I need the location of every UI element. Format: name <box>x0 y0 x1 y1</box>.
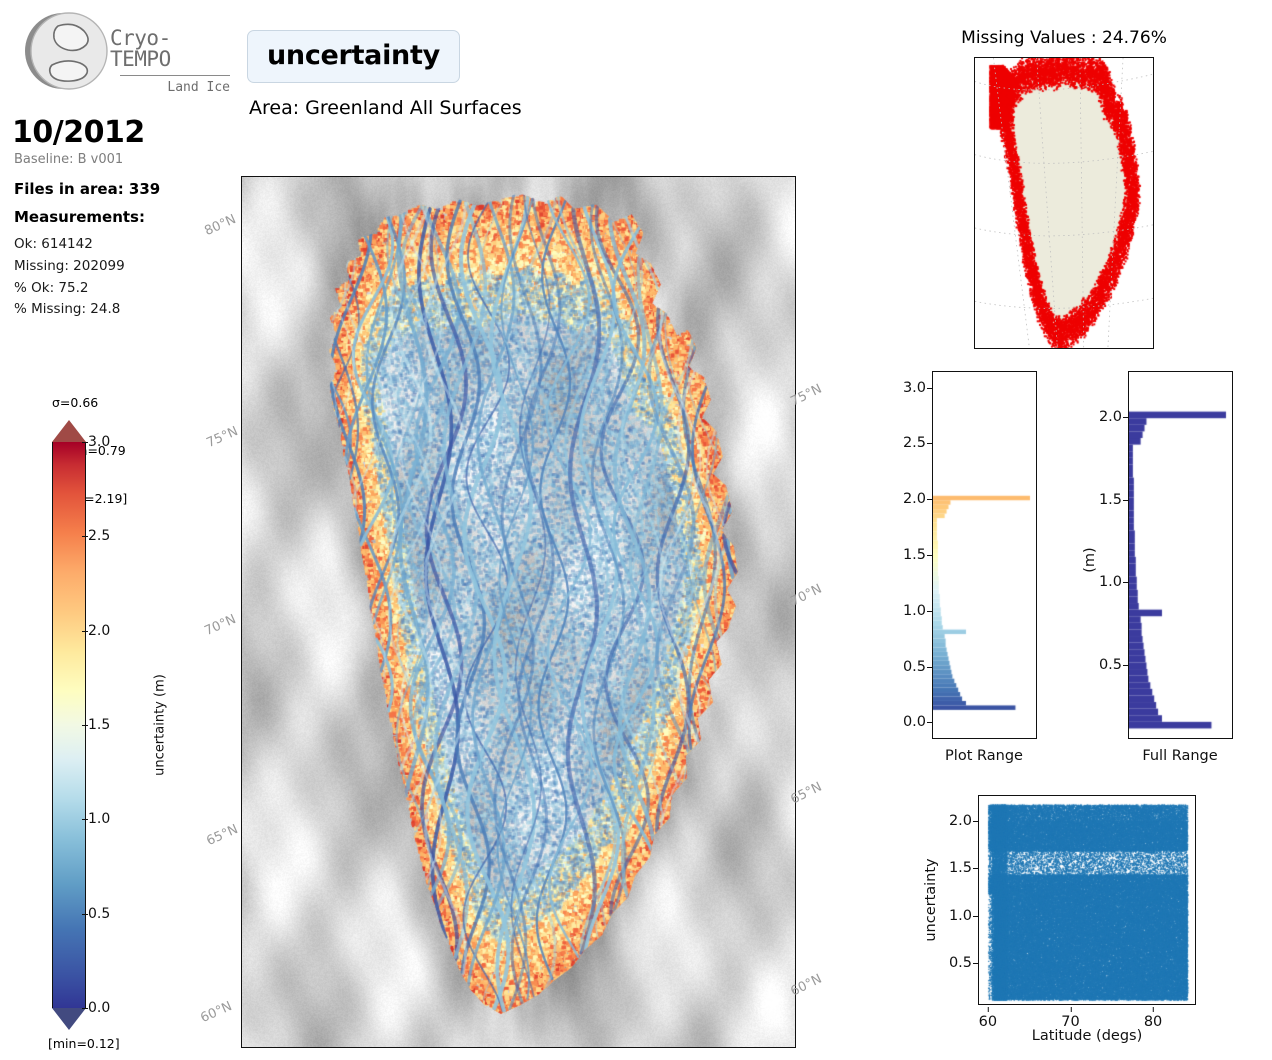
colorbar-tick-5: 0.5 <box>88 906 148 922</box>
date-label: 10/2012 <box>12 115 145 150</box>
full-range-histogram <box>1128 371 1233 739</box>
missing-map-graticule <box>975 58 1153 348</box>
plot-range-ytick-1: 0.5 <box>880 659 926 675</box>
colorbar-gradient <box>52 442 86 1008</box>
colorbar: 3.02.52.01.51.00.50.0 uncertainty (m) <box>52 420 86 1030</box>
colorbar-tick-3: 1.5 <box>88 717 148 733</box>
full-range-ylabel: (m) <box>1082 547 1098 572</box>
colorbar-tick-0: 3.0 <box>88 434 148 450</box>
map-lat-label-left-3: 65°N <box>204 822 240 849</box>
colorbar-sigma: σ=0.66 <box>52 395 127 411</box>
area-subtitle: Area: Greenland All Surfaces <box>249 97 522 119</box>
full-range-bars <box>1129 372 1233 739</box>
scatter-ytick-0: 0.5 <box>926 955 972 971</box>
logo-subtitle: Land Ice <box>110 80 230 95</box>
missing-values-title: Missing Values : 24.76% <box>961 28 1167 48</box>
full-range-ytick-1: 1.0 <box>1076 574 1122 590</box>
stat-pct-ok: % Ok: 75.2 <box>14 280 88 296</box>
scatter-ylabel: uncertainty <box>923 858 939 941</box>
colorbar-tick-6: 0.0 <box>88 1000 148 1016</box>
scatter-xlabel: Latitude (degs) <box>1032 1028 1143 1044</box>
scatter-xtick-0: 60 <box>979 1014 997 1030</box>
map-lat-label-left-4: 60°N <box>198 999 234 1026</box>
plot-range-bars <box>933 372 1037 739</box>
colorbar-tick-2: 2.0 <box>88 623 148 639</box>
full-range-ytick-0: 0.5 <box>1076 657 1122 673</box>
plot-range-ytick-6: 3.0 <box>880 380 926 396</box>
baseline-label: Baseline: B v001 <box>14 152 123 167</box>
plot-range-ytick-3: 1.5 <box>880 547 926 563</box>
stat-missing: Missing: 202099 <box>14 258 125 274</box>
map-lat-label-left-0: 80°N <box>202 212 238 239</box>
colorbar-tick-1: 2.5 <box>88 528 148 544</box>
scatter-ytick-3: 2.0 <box>926 813 972 829</box>
files-in-area-label: Files in area: 339 <box>14 180 160 198</box>
main-map[interactable]: km 400.0 <box>241 176 796 1048</box>
colorbar-min: [min=0.12] <box>48 1036 120 1051</box>
logo-divider <box>120 75 230 76</box>
full-range-ytick-3: 2.0 <box>1076 409 1122 425</box>
missing-values-map[interactable] <box>974 57 1154 349</box>
map-lat-label-left-2: 70°N <box>202 612 238 639</box>
plot-range-histogram <box>932 371 1037 739</box>
plot-range-caption: Plot Range <box>945 748 1023 764</box>
variable-title: uncertainty <box>247 30 460 83</box>
plot-range-ytick-5: 2.5 <box>880 435 926 451</box>
measurements-heading: Measurements: <box>14 208 145 226</box>
stat-pct-missing: % Missing: 24.8 <box>14 301 120 317</box>
plot-range-ytick-4: 2.0 <box>880 491 926 507</box>
colorbar-extend-high <box>52 420 86 442</box>
full-range-caption: Full Range <box>1142 748 1217 764</box>
app-logo: Cryo-TEMPO Land Ice <box>14 6 224 98</box>
plot-range-ytick-2: 1.0 <box>880 603 926 619</box>
uncertainty-vs-latitude-plot <box>978 795 1196 1005</box>
colorbar-axis-label: uncertainty (m) <box>153 674 168 776</box>
map-lat-label-left-1: 75°N <box>204 424 240 451</box>
logo-title: Cryo-TEMPO <box>110 28 230 70</box>
stat-ok: Ok: 614142 <box>14 236 93 252</box>
map-data-layer <box>242 177 796 1048</box>
scatter-xtick-2: 80 <box>1144 1014 1162 1030</box>
colorbar-tick-4: 1.0 <box>88 811 148 827</box>
scatter-points <box>979 796 1196 1005</box>
globe-icon <box>22 8 108 94</box>
plot-range-ytick-0: 0.0 <box>880 714 926 730</box>
full-range-ytick-2: 1.5 <box>1076 492 1122 508</box>
colorbar-extend-low <box>52 1008 86 1030</box>
